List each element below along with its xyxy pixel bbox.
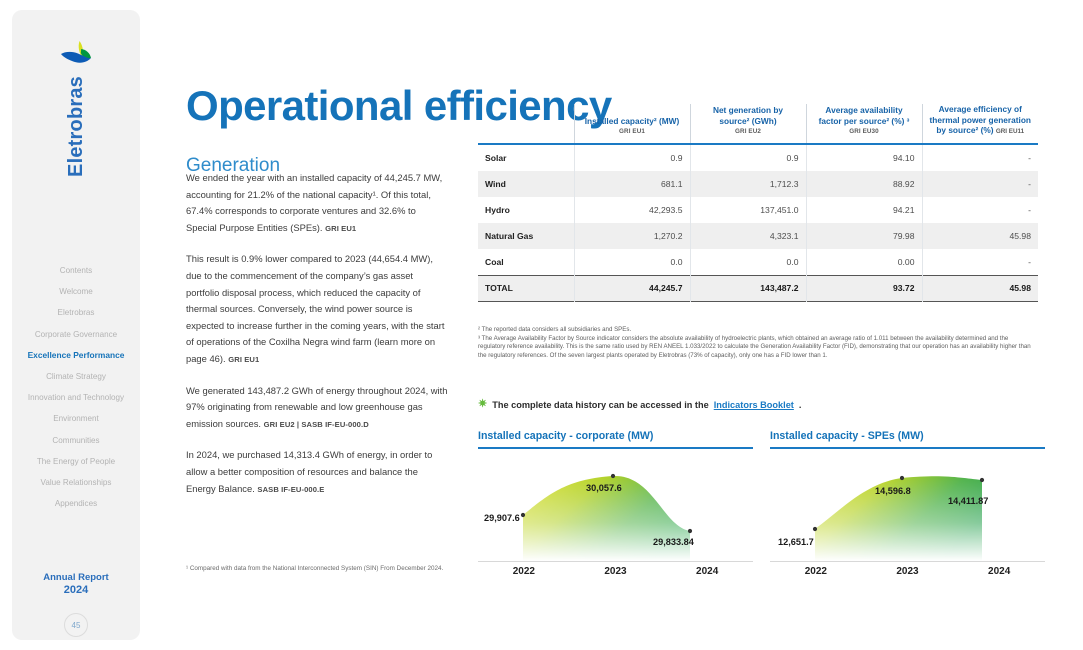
cell-wind-eff: - bbox=[922, 171, 1038, 197]
chart-right-label-2023: 14,596.8 bbox=[875, 486, 911, 496]
cell-wind-avail: 88.92 bbox=[806, 171, 922, 197]
table-col-thermal-efficiency: Average efficiency of thermal power gene… bbox=[922, 104, 1038, 144]
cell-wind-net: 1,712.3 bbox=[690, 171, 806, 197]
sidebar: Eletrobras Contents Welcome Eletrobras C… bbox=[12, 10, 140, 640]
generation-table-wrapper: Installed capacity² (MW) GRI EU1 Net gen… bbox=[478, 104, 1038, 302]
table-header-row: Installed capacity² (MW) GRI EU1 Net gen… bbox=[478, 104, 1038, 144]
table-col-net-generation: Net generation by source² (GWh) GRI EU2 bbox=[690, 104, 806, 144]
cell-solar-installed: 0.9 bbox=[574, 144, 690, 171]
paragraph-4: In 2024, we purchased 14,313.4 GWh of en… bbox=[186, 447, 448, 498]
sidebar-item-environment[interactable]: Environment bbox=[12, 408, 140, 429]
annual-report-label: Annual Report 2024 bbox=[12, 572, 140, 596]
generation-table: Installed capacity² (MW) GRI EU1 Net gen… bbox=[478, 104, 1038, 302]
paragraph-4-gri-tag: SASB IF-EU-000.E bbox=[257, 485, 324, 494]
brand-logo[interactable]: Eletrobras bbox=[12, 40, 140, 177]
table-total-row: TOTAL 44,245.7 143,487.2 93.72 45.98 bbox=[478, 275, 1038, 301]
chart-right-label-2022: 12,651.7 bbox=[778, 537, 814, 547]
cell-hydro-eff: - bbox=[922, 197, 1038, 223]
table-col-net-generation-gri: GRI EU2 bbox=[698, 127, 799, 138]
cell-coal-avail: 0.00 bbox=[806, 249, 922, 276]
cell-natural-gas-avail: 79.98 bbox=[806, 223, 922, 249]
paragraph-3-gri-tag: GRI EU2 | SASB IF-EU-000.D bbox=[264, 420, 369, 429]
chart-installed-capacity-corporate: Installed capacity - corporate (MW) bbox=[478, 430, 753, 577]
chart-left-label-2023: 30,057.6 bbox=[586, 483, 622, 493]
cell-total-avail: 93.72 bbox=[806, 275, 922, 301]
table-col-thermal-efficiency-gri: GRI EU11 bbox=[996, 128, 1024, 135]
chart-left-label-2022: 29,907.6 bbox=[484, 513, 520, 523]
annual-report-text: Annual Report bbox=[12, 572, 140, 584]
eletrobras-leaf-logo-icon bbox=[59, 40, 93, 70]
sidebar-item-eletrobras[interactable]: Eletrobras bbox=[12, 302, 140, 323]
indicators-booklet-link[interactable]: Indicators Booklet bbox=[714, 400, 794, 410]
paragraph-3: We generated 143,487.2 GWh of energy thr… bbox=[186, 383, 448, 434]
chart-left-svg bbox=[478, 457, 753, 562]
sidebar-item-corporate-governance[interactable]: Corporate Governance bbox=[12, 324, 140, 345]
sidebar-item-innovation-and-technology[interactable]: Innovation and Technology bbox=[12, 387, 140, 408]
row-label-solar: Solar bbox=[478, 144, 574, 171]
sidebar-item-the-energy-of-people[interactable]: The Energy of People bbox=[12, 451, 140, 472]
left-column-footnote: ¹ Compared with data from the National I… bbox=[186, 564, 454, 573]
cell-solar-eff: - bbox=[922, 144, 1038, 171]
cell-coal-eff: - bbox=[922, 249, 1038, 276]
chart-left-x-2024: 2024 bbox=[661, 566, 753, 577]
cell-solar-avail: 94.10 bbox=[806, 144, 922, 171]
row-label-total: TOTAL bbox=[478, 275, 574, 301]
paragraph-2: This result is 0.9% lower compared to 20… bbox=[186, 251, 448, 368]
cell-coal-net: 0.0 bbox=[690, 249, 806, 276]
sidebar-item-climate-strategy[interactable]: Climate Strategy bbox=[12, 366, 140, 387]
chart-right-rule bbox=[770, 447, 1045, 449]
chart-right-title: Installed capacity - SPEs (MW) bbox=[770, 430, 1045, 442]
chart-right-x-labels: 2022 2023 2024 bbox=[770, 566, 1045, 577]
table-row: Solar 0.9 0.9 94.10 - bbox=[478, 144, 1038, 171]
sidebar-item-excellence-performance[interactable]: Excellence Performance bbox=[12, 345, 140, 366]
table-row: Hydro 42,293.5 137,451.0 94.21 - bbox=[478, 197, 1038, 223]
table-col-availability-factor-gri: GRI EU30 bbox=[814, 127, 915, 138]
row-label-wind: Wind bbox=[478, 171, 574, 197]
chart-right-x-2023: 2023 bbox=[862, 566, 954, 577]
brand-name: Eletrobras bbox=[65, 76, 88, 177]
table-row: Coal 0.0 0.0 0.00 - bbox=[478, 249, 1038, 276]
table-row: Wind 681.1 1,712.3 88.92 - bbox=[478, 171, 1038, 197]
cell-total-installed: 44,245.7 bbox=[574, 275, 690, 301]
cell-wind-installed: 681.1 bbox=[574, 171, 690, 197]
page-number-badge: 45 bbox=[64, 613, 88, 637]
chart-left-axis bbox=[478, 561, 753, 562]
booklet-period: . bbox=[799, 400, 802, 410]
table-col-source bbox=[478, 104, 574, 144]
paragraph-2-gri-tag: GRI EU1 bbox=[228, 355, 259, 364]
chart-right-x-2022: 2022 bbox=[770, 566, 862, 577]
table-col-installed-capacity-title: Installed capacity² (MW) bbox=[585, 116, 680, 126]
chart-right-canvas: 12,651.7 14,596.8 14,411.87 bbox=[770, 457, 1045, 562]
sidebar-item-welcome[interactable]: Welcome bbox=[12, 281, 140, 302]
cell-total-eff: 45.98 bbox=[922, 275, 1038, 301]
booklet-text: The complete data history can be accesse… bbox=[492, 400, 709, 410]
cell-natural-gas-eff: 45.98 bbox=[922, 223, 1038, 249]
chart-installed-capacity-spes: Installed capacity - SPEs (MW) bbox=[770, 430, 1045, 577]
sidebar-item-value-relationships[interactable]: Value Relationships bbox=[12, 472, 140, 493]
paragraph-2-text: This result is 0.9% lower compared to 20… bbox=[186, 253, 444, 364]
table-row: Natural Gas 1,270.2 4,323.1 79.98 45.98 bbox=[478, 223, 1038, 249]
chart-left-x-2022: 2022 bbox=[478, 566, 570, 577]
paragraph-1-gri-tag: GRI EU1 bbox=[325, 224, 356, 233]
table-footnotes: ² The reported data considers all subsid… bbox=[478, 326, 1036, 361]
cell-natural-gas-installed: 1,270.2 bbox=[574, 223, 690, 249]
chart-right-axis bbox=[770, 561, 1045, 562]
table-col-availability-factor-title: Average availability factor per source² … bbox=[819, 105, 910, 126]
row-label-coal: Coal bbox=[478, 249, 574, 276]
sidebar-item-contents[interactable]: Contents bbox=[12, 260, 140, 281]
sidebar-item-communities[interactable]: Communities bbox=[12, 430, 140, 451]
paragraph-1: We ended the year with an installed capa… bbox=[186, 170, 448, 237]
table-footnote-3: ³ The Average Availability Factor by Sou… bbox=[478, 335, 1036, 361]
indicators-booklet-callout: ✷ The complete data history can be acces… bbox=[478, 399, 801, 410]
table-col-installed-capacity-gri: GRI EU1 bbox=[582, 127, 683, 138]
cell-total-net: 143,487.2 bbox=[690, 275, 806, 301]
chart-left-x-labels: 2022 2023 2024 bbox=[478, 566, 753, 577]
cell-hydro-avail: 94.21 bbox=[806, 197, 922, 223]
cell-coal-installed: 0.0 bbox=[574, 249, 690, 276]
paragraph-1-text: We ended the year with an installed capa… bbox=[186, 172, 442, 233]
cell-hydro-installed: 42,293.5 bbox=[574, 197, 690, 223]
cell-solar-net: 0.9 bbox=[690, 144, 806, 171]
chart-left-label-2024: 29,833.84 bbox=[653, 537, 694, 547]
chart-left-canvas: 29,907.6 30,057.6 29,833.84 bbox=[478, 457, 753, 562]
table-col-availability-factor: Average availability factor per source² … bbox=[806, 104, 922, 144]
sidebar-item-appendices[interactable]: Appendices bbox=[12, 493, 140, 514]
sidebar-nav: Contents Welcome Eletrobras Corporate Go… bbox=[12, 260, 140, 514]
cell-hydro-net: 137,451.0 bbox=[690, 197, 806, 223]
annual-report-year: 2024 bbox=[12, 584, 140, 596]
row-label-hydro: Hydro bbox=[478, 197, 574, 223]
asterisk-icon: ✷ bbox=[478, 399, 487, 410]
chart-right-label-2024: 14,411.87 bbox=[948, 496, 988, 506]
table-body: Solar 0.9 0.9 94.10 - Wind 681.1 1,712.3… bbox=[478, 144, 1038, 302]
chart-left-x-2023: 2023 bbox=[570, 566, 662, 577]
table-col-installed-capacity: Installed capacity² (MW) GRI EU1 bbox=[574, 104, 690, 144]
chart-left-rule bbox=[478, 447, 753, 449]
row-label-natural-gas: Natural Gas bbox=[478, 223, 574, 249]
chart-right-x-2024: 2024 bbox=[953, 566, 1045, 577]
cell-natural-gas-net: 4,323.1 bbox=[690, 223, 806, 249]
table-footnote-2: ² The reported data considers all subsid… bbox=[478, 326, 1036, 335]
chart-left-title: Installed capacity - corporate (MW) bbox=[478, 430, 753, 442]
table-col-net-generation-title: Net generation by source² (GWh) bbox=[713, 105, 783, 126]
body-text-column: We ended the year with an installed capa… bbox=[186, 170, 448, 512]
